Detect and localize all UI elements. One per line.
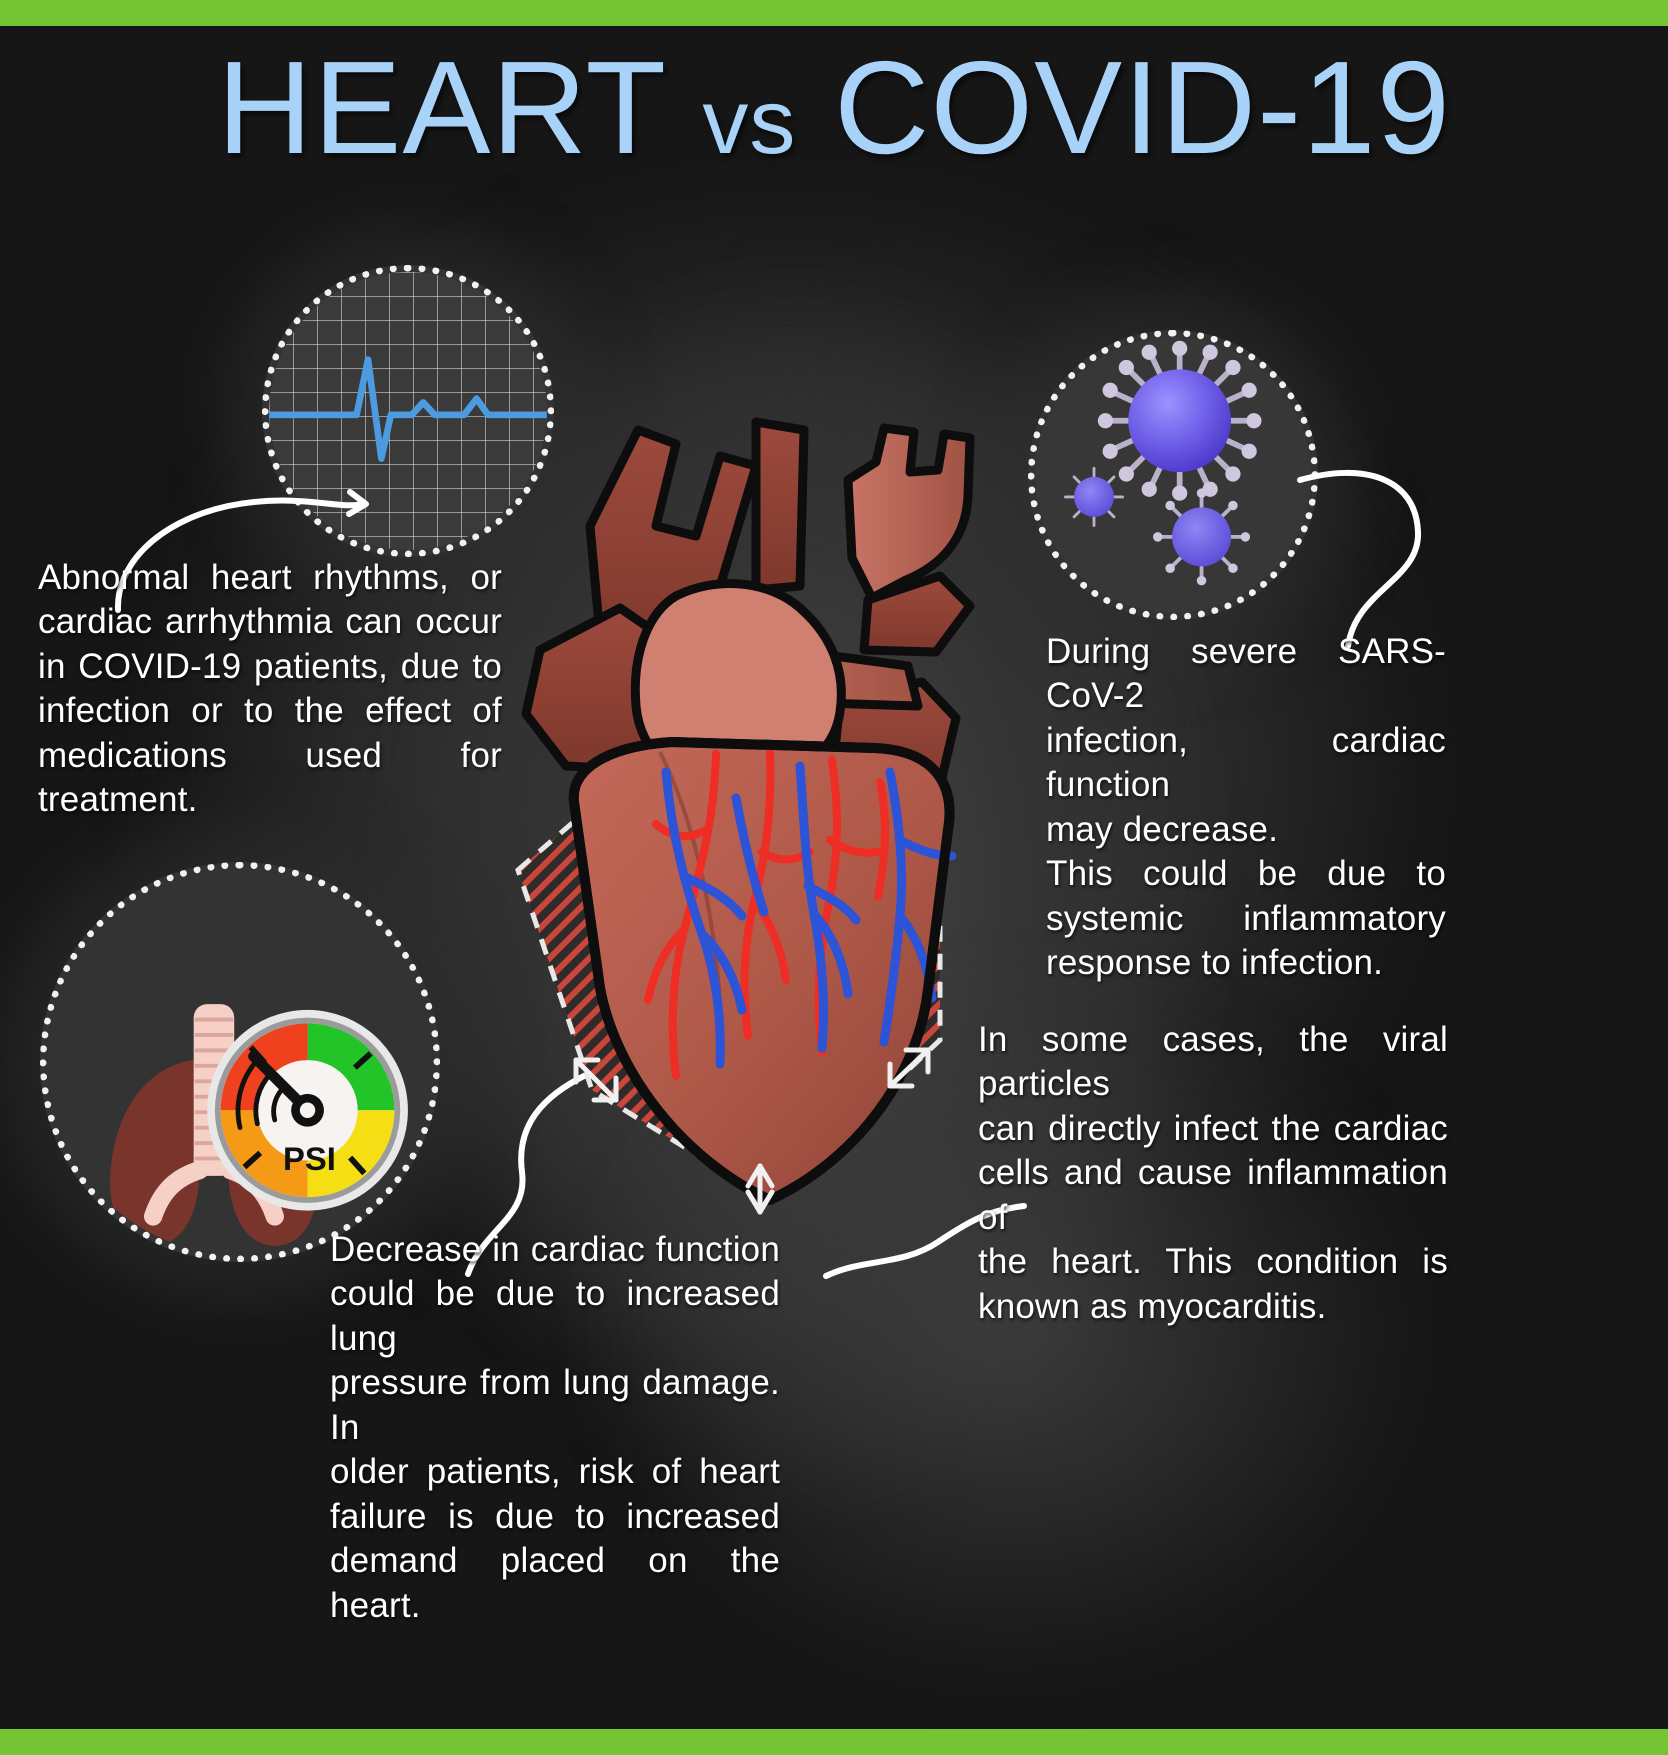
bottom-accent-bar bbox=[0, 1729, 1668, 1755]
callout-line: pressure from lung damage. In bbox=[330, 1361, 780, 1450]
callout-line: can directly infect the cardiac bbox=[978, 1107, 1448, 1151]
callout-line: infection, cardiac function bbox=[1046, 719, 1446, 808]
virus-small bbox=[1065, 468, 1122, 525]
callout-line: In some cases, the viral particles bbox=[978, 1018, 1448, 1107]
virus-medium bbox=[1153, 488, 1250, 585]
callout-line: This could be due to bbox=[1046, 852, 1446, 896]
callout-line: cells and cause inflammation of bbox=[978, 1151, 1448, 1240]
infographic-poster: HEART vs COVID-19 bbox=[0, 0, 1668, 1755]
callout-line: cardiac arrhythmia can occur bbox=[38, 600, 502, 644]
callout-line: failure is due to increased bbox=[330, 1495, 780, 1539]
callout-line: known as myocarditis. bbox=[978, 1285, 1448, 1329]
virus-bubble-inner bbox=[1035, 337, 1311, 613]
page-title: HEART vs COVID-19 bbox=[0, 42, 1668, 174]
callout-arrhythmia: Abnormal heart rhythms, or cardiac arrhy… bbox=[38, 556, 502, 823]
callout-line: Decrease in cardiac function bbox=[330, 1228, 780, 1272]
callout-line: medications used for treatment. bbox=[38, 734, 502, 823]
callout-viral-particles: In some cases, the viral particles can d… bbox=[978, 1018, 1448, 1329]
title-part-covid: COVID-19 bbox=[834, 34, 1451, 181]
callout-line: in COVID-19 patients, due to bbox=[38, 645, 502, 689]
lungs-pressure-gauge-icon: PSI bbox=[40, 862, 440, 1262]
lungs-bubble-inner: PSI bbox=[47, 869, 433, 1255]
callout-line: demand placed on the heart. bbox=[330, 1539, 780, 1628]
coronavirus-particles-icon bbox=[1028, 330, 1318, 620]
top-accent-bar bbox=[0, 0, 1668, 26]
lungs-gauge-svg: PSI bbox=[47, 869, 433, 1255]
callout-line: Abnormal heart rhythms, or bbox=[38, 556, 502, 600]
callout-line: During severe SARS-CoV-2 bbox=[1046, 630, 1446, 719]
callout-line: older patients, risk of heart bbox=[330, 1450, 780, 1494]
virus-large bbox=[1098, 341, 1262, 501]
callout-severe-infection: During severe SARS-CoV-2 infection, card… bbox=[1046, 630, 1446, 986]
title-part-vs: vs bbox=[702, 71, 796, 173]
callout-line: systemic inflammatory bbox=[1046, 897, 1446, 941]
anatomical-heart-illustration bbox=[470, 400, 1040, 1280]
pressure-gauge: PSI bbox=[207, 1010, 408, 1211]
callout-decrease-function: Decrease in cardiac function could be du… bbox=[330, 1228, 780, 1628]
callout-line: the heart. This condition is bbox=[978, 1240, 1448, 1284]
callout-line: could be due to increased lung bbox=[330, 1272, 780, 1361]
heart-svg bbox=[470, 400, 1040, 1280]
gauge-psi-label: PSI bbox=[283, 1140, 336, 1177]
virus-particles-svg bbox=[1035, 337, 1311, 613]
title-part-heart: HEART bbox=[217, 34, 665, 181]
callout-line: infection or to the effect of bbox=[38, 689, 502, 733]
callout-line: may decrease. bbox=[1046, 808, 1446, 852]
callout-line: response to infection. bbox=[1046, 941, 1446, 985]
